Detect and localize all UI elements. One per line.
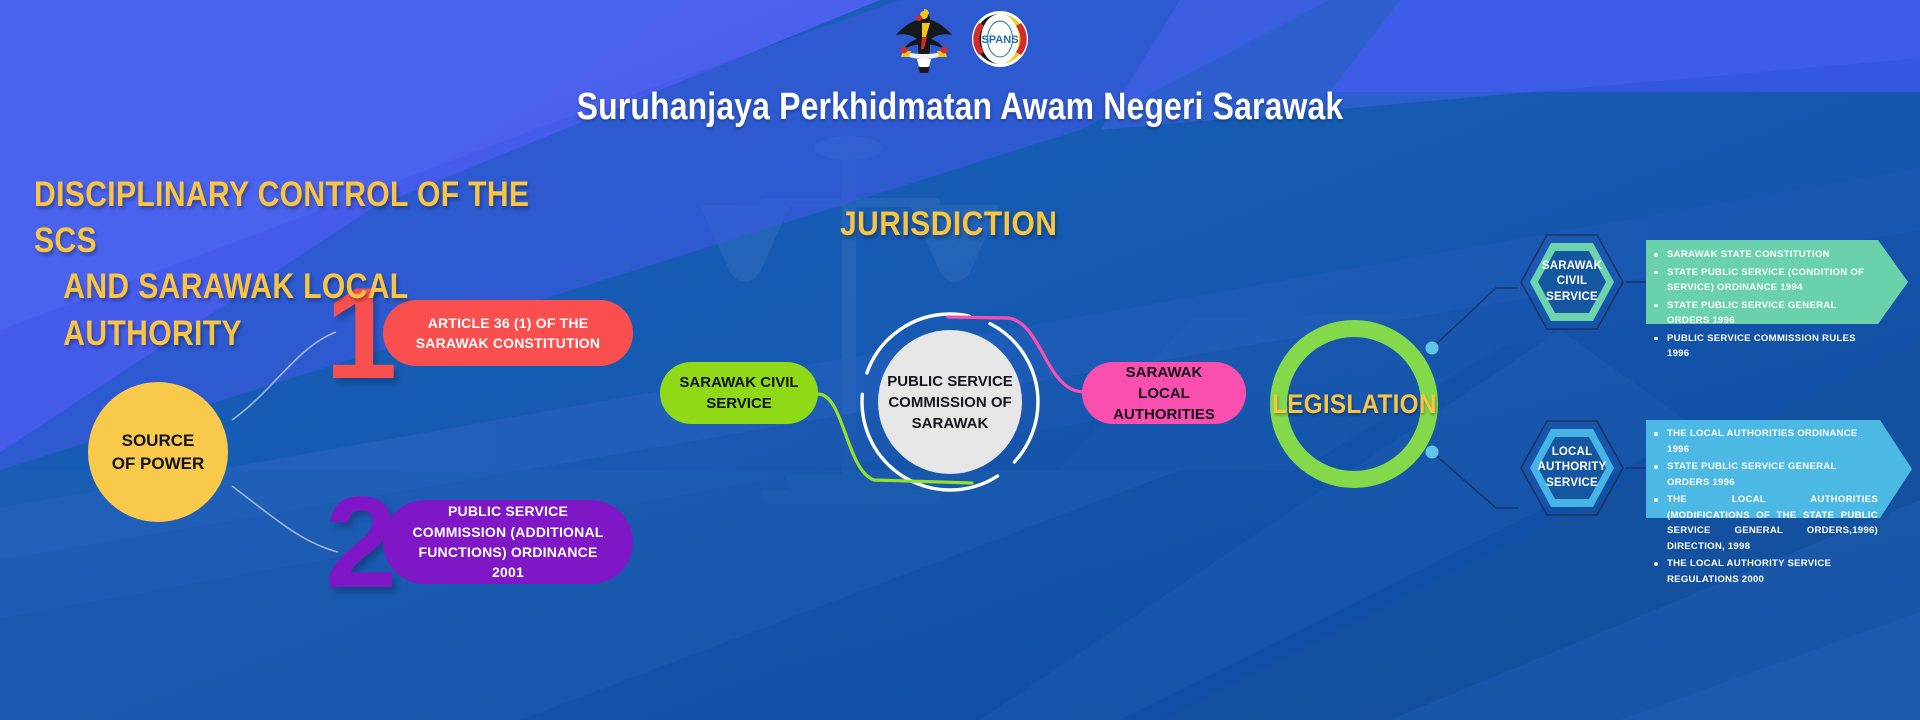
hex2-line1: LOCAL bbox=[1552, 445, 1593, 461]
sarawak-coat-of-arms-icon bbox=[891, 5, 957, 73]
hexagon-local-authority-service-label: LOCAL AUTHORITY SERVICE bbox=[1518, 418, 1626, 518]
hexagon-local-authority-service[interactable]: LOCAL AUTHORITY SERVICE bbox=[1518, 418, 1626, 518]
jurisdiction-sarawak-civil-service[interactable]: SARAWAK CIVIL SERVICE bbox=[660, 362, 818, 424]
legislation-label: LEGISLATION bbox=[1272, 389, 1437, 420]
jurisdiction-sarawak-local-authorities[interactable]: SARAWAK LOCAL AUTHORITIES bbox=[1082, 362, 1246, 424]
hex1-line3: SERVICE bbox=[1546, 290, 1598, 306]
legislation-list-local-authority-service[interactable]: THE LOCAL AUTHORITIES ORDINANCE 1996 STA… bbox=[1642, 416, 1914, 522]
hexagon-sarawak-civil-service-label: SARAWAK CIVIL SERVICE bbox=[1518, 232, 1626, 332]
jurisdiction-center-node: PUBLIC SERVICE COMMISSION OF SARAWAK bbox=[878, 330, 1022, 474]
hex1-line1: SARAWAK bbox=[1542, 259, 1602, 275]
hexagon-sarawak-civil-service[interactable]: SARAWAK CIVIL SERVICE bbox=[1518, 232, 1626, 332]
source-of-power-node: SOURCE OF POWER bbox=[88, 382, 228, 522]
infographic-canvas: SPANS Suruhanjaya Perkhidmatan Awam Nege… bbox=[0, 0, 1920, 720]
hex2-line3: SERVICE bbox=[1546, 476, 1598, 492]
page-title-line2: AND SARAWAK LOCAL AUTHORITY bbox=[34, 264, 567, 356]
legislation-node: LEGISLATION bbox=[1270, 320, 1438, 488]
jurisdiction-heading: JURISDICTION bbox=[840, 205, 1057, 244]
list-item: THE LOCAL AUTHORITIES ORDINANCE 1996 bbox=[1652, 426, 1880, 457]
list-item: PUBLIC SERVICE COMMISSION RULES 1996 bbox=[1652, 331, 1876, 362]
hex2-line2: AUTHORITY bbox=[1538, 460, 1607, 476]
source-of-power-line1: SOURCE bbox=[122, 429, 195, 452]
source-item-2-label: PUBLIC SERVICE COMMISSION (ADDITIONAL FU… bbox=[383, 500, 633, 584]
source-item-2[interactable]: 2 PUBLIC SERVICE COMMISSION (ADDITIONAL … bbox=[325, 500, 635, 584]
hex1-line2: CIVIL bbox=[1557, 274, 1587, 290]
list-item: STATE PUBLIC SERVICE GENERAL ORDERS 1996 bbox=[1652, 459, 1880, 490]
list-item: THE LOCAL AUTHORITIES (MODIFICATIONS OF … bbox=[1652, 492, 1880, 554]
list-item: STATE PUBLIC SERVICE (CONDITION OF SERVI… bbox=[1652, 265, 1876, 296]
page-header: SPANS Suruhanjaya Perkhidmatan Awam Nege… bbox=[0, 0, 1920, 140]
legislation-list-sarawak-civil-service[interactable]: SARAWAK STATE CONSTITUTION STATE PUBLIC … bbox=[1642, 236, 1910, 328]
spans-acronym-text: SPANS bbox=[981, 34, 1018, 46]
list-item: SARAWAK STATE CONSTITUTION bbox=[1652, 247, 1876, 263]
list-item: STATE PUBLIC SERVICE GENERAL ORDERS 1996 bbox=[1652, 298, 1876, 329]
org-title: Suruhanjaya Perkhidmatan Awam Negeri Sar… bbox=[154, 86, 1767, 129]
source-of-power-line2: OF POWER bbox=[112, 452, 205, 475]
list-item: THE LOCAL AUTHORITY SERVICE REGULATIONS … bbox=[1652, 556, 1880, 587]
logo-group: SPANS bbox=[891, 4, 1029, 74]
spans-logo-icon: SPANS bbox=[971, 10, 1029, 68]
legislation-list-1: SARAWAK STATE CONSTITUTION STATE PUBLIC … bbox=[1642, 236, 1910, 362]
page-title-line1: DISCIPLINARY CONTROL OF THE SCS bbox=[34, 172, 567, 264]
legislation-list-2: THE LOCAL AUTHORITIES ORDINANCE 1996 STA… bbox=[1642, 416, 1914, 587]
page-title: DISCIPLINARY CONTROL OF THE SCS AND SARA… bbox=[34, 172, 567, 357]
